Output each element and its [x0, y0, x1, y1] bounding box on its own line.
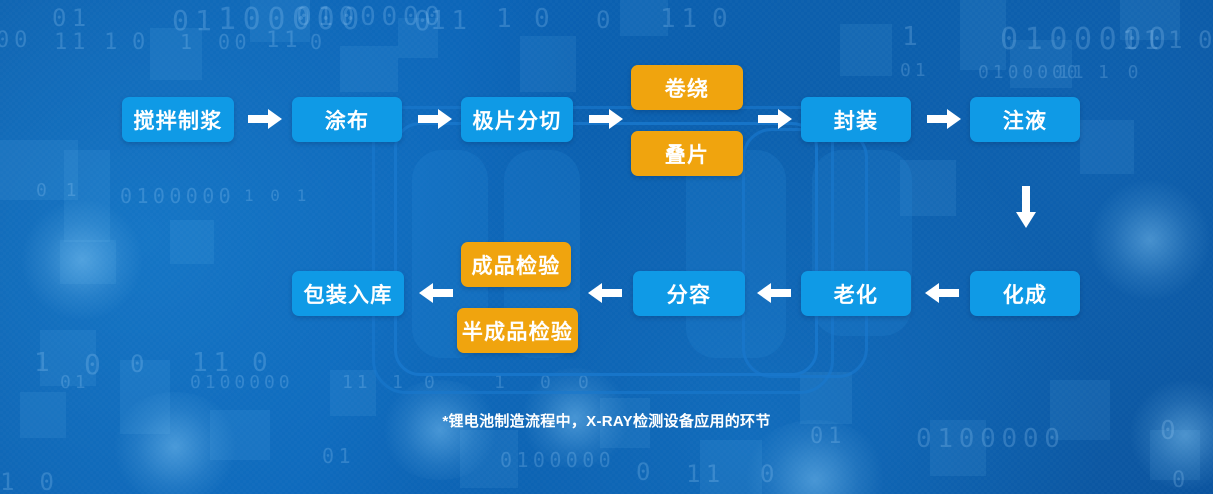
node-label: 卷绕 [665, 73, 710, 103]
node-slitting[interactable]: 极片分切 [461, 97, 573, 142]
arrow-left-icon [588, 281, 622, 305]
node-semi-inspect[interactable]: 半成品检验 [457, 308, 578, 353]
arrow-right-icon [927, 107, 961, 131]
arrow-left-icon [757, 281, 791, 305]
arrow-left-icon [925, 281, 959, 305]
node-label: 叠片 [665, 139, 710, 169]
arrow-right-icon [248, 107, 282, 131]
arrow-right-icon [589, 107, 623, 131]
node-packaging-seal[interactable]: 封装 [801, 97, 911, 142]
node-formation[interactable]: 化成 [970, 271, 1080, 316]
arrow-right-icon [418, 107, 452, 131]
arrow-down-icon [1014, 186, 1038, 228]
node-label: 老化 [834, 279, 879, 309]
node-finished-inspect[interactable]: 成品检验 [461, 242, 571, 287]
node-label: 搅拌制浆 [133, 105, 222, 135]
node-label: 包装入库 [303, 279, 392, 309]
node-pack-warehouse[interactable]: 包装入库 [292, 271, 404, 316]
node-electrolyte-fill[interactable]: 注液 [970, 97, 1080, 142]
arrow-right-icon [758, 107, 792, 131]
node-capacity-grading[interactable]: 分容 [633, 271, 745, 316]
node-label: 注液 [1003, 105, 1048, 135]
node-label: 极片分切 [472, 105, 561, 135]
arrow-left-icon [419, 281, 453, 305]
node-stacking[interactable]: 叠片 [631, 131, 743, 176]
diagram-caption: *锂电池制造流程中，X-RAY检测设备应用的环节 [0, 410, 1213, 431]
node-label: 涂布 [325, 105, 370, 135]
node-label: 半成品检验 [462, 316, 573, 346]
node-label: 封装 [834, 105, 879, 135]
node-winding[interactable]: 卷绕 [631, 65, 743, 110]
node-aging[interactable]: 老化 [801, 271, 911, 316]
node-label: 化成 [1003, 279, 1048, 309]
node-label: 分容 [667, 279, 712, 309]
node-label: 成品检验 [471, 250, 560, 280]
node-coating[interactable]: 涂布 [292, 97, 402, 142]
node-mixing[interactable]: 搅拌制浆 [122, 97, 234, 142]
flow-diagram-stage: 01 01 100000 0 0100000 11 1 0 0 11 0 00 … [0, 0, 1213, 494]
